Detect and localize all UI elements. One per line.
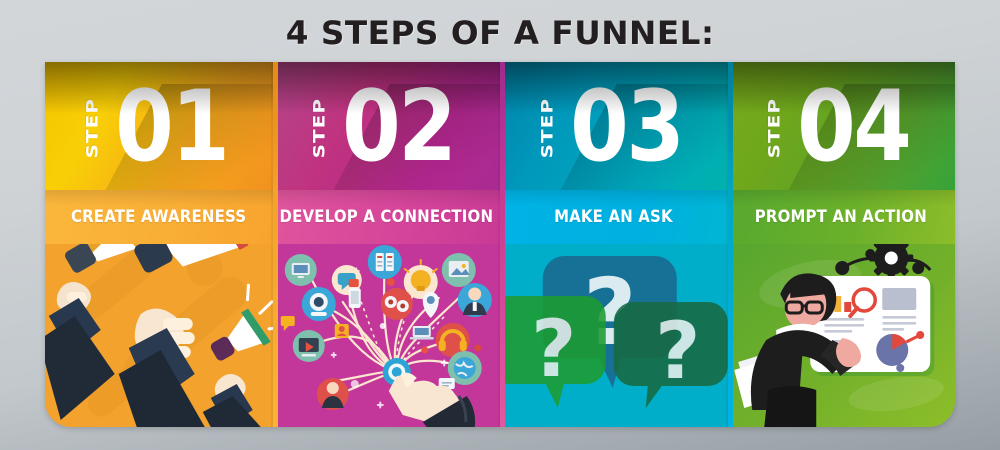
icon-monitor	[284, 254, 316, 286]
step-2-label-band: DEVELOP A CONNECTION	[273, 190, 501, 244]
step-3-number: 03	[570, 85, 682, 169]
step-1-label: CREATE AWARENESS	[71, 207, 246, 227]
step-3-illustration: ? ? ?	[500, 244, 728, 427]
steps-board: STEP 01 CREATE AWARENESS	[45, 62, 955, 427]
dot-right	[912, 262, 924, 274]
step-4-number: 04	[797, 85, 909, 169]
body-lower	[764, 386, 816, 427]
step-panel-2[interactable]: STEP 02 DEVELOP A CONNECTION	[273, 62, 501, 427]
step-1-label-band: CREATE AWARENESS	[45, 190, 273, 244]
step-3-label: MAKE AN ASK	[554, 207, 673, 227]
speech-bubble-green: ?	[500, 296, 606, 408]
icon-smartphone	[348, 288, 360, 308]
icon-laptop	[409, 326, 433, 340]
step-4-illustration	[728, 244, 956, 427]
step-3-band-shade	[500, 190, 728, 206]
gear-icon	[869, 244, 913, 280]
arm-right	[203, 396, 261, 427]
step-4-label: PROMPT AN ACTION	[755, 207, 927, 227]
step-2-band-shade	[273, 190, 501, 206]
svg-text:?: ?	[531, 305, 576, 395]
step-3-label-band: MAKE AN ASK	[500, 190, 728, 244]
step-4-band-shade	[728, 190, 956, 206]
dot-left	[835, 261, 849, 275]
step-2-number: 02	[342, 85, 454, 169]
icon-photo	[441, 253, 475, 287]
icon-settings	[380, 288, 412, 320]
panel-3-left-edge	[500, 62, 505, 427]
step-1-number: 01	[115, 85, 227, 169]
icon-card-small	[334, 324, 348, 338]
step-4-step-word: STEP	[766, 98, 782, 158]
page-title: 4 STEPS OF A FUNNEL:	[0, 14, 1000, 52]
step-panel-3[interactable]: STEP 03 MAKE AN ASK ? ?	[500, 62, 728, 427]
icon-person-avatar	[457, 283, 491, 317]
step-panel-4[interactable]: STEP 04 PROMPT AN ACTION	[728, 62, 956, 427]
step-4-label-band: PROMPT AN ACTION	[728, 190, 956, 244]
step-2-step-word: STEP	[311, 98, 327, 158]
icon-documents	[367, 245, 401, 279]
step-3-step-word: STEP	[538, 98, 554, 158]
panel-4-left-edge	[728, 62, 733, 427]
icon-webcam	[301, 287, 335, 321]
step-2-number-zone: STEP 02	[273, 62, 501, 190]
step-1-band-shade	[45, 190, 273, 206]
panel-2-left-edge	[273, 62, 278, 427]
icon-video-player	[292, 330, 324, 362]
step-3-number-zone: STEP 03	[500, 62, 728, 190]
step-2-illustration	[273, 244, 501, 427]
step-2-label: DEVELOP A CONNECTION	[279, 207, 493, 227]
speech-bubble-dark-green: ?	[614, 302, 728, 408]
step-panel-1[interactable]: STEP 01 CREATE AWARENESS	[45, 62, 273, 427]
step-1-number-zone: STEP 01	[45, 62, 273, 190]
icon-location-pin	[422, 292, 438, 318]
icon-chat-small-left	[280, 316, 294, 331]
step-1-step-word: STEP	[83, 98, 99, 158]
step-1-illustration	[45, 244, 273, 427]
svg-text:?: ?	[655, 307, 700, 397]
icon-user-avatar-red	[316, 378, 348, 410]
step-4-number-zone: STEP 04	[728, 62, 956, 190]
image-block	[882, 288, 916, 310]
page-title-text: 4 STEPS OF A FUNNEL:	[286, 14, 715, 52]
